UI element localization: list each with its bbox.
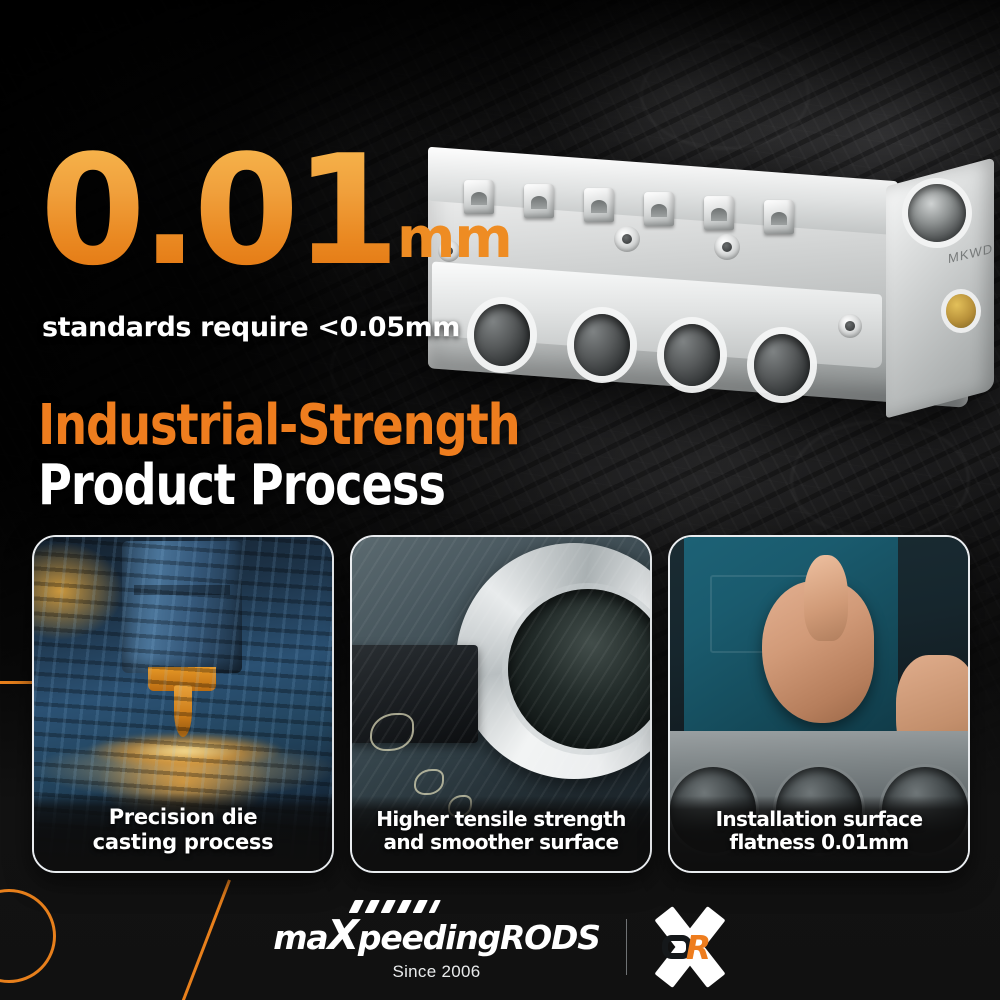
tool-holder [350, 645, 478, 743]
promo-banner: MKWD 0.01 mm standards require <0.05mm I… [0, 0, 1000, 1000]
feature-card-precision-die-casting[interactable]: Precision die casting process [32, 535, 334, 873]
drill-bit [174, 685, 192, 737]
x-monogram-icon: R [653, 916, 727, 978]
wordmark-x: X [327, 911, 357, 959]
section-title: Industrial-Strength Product Process [38, 396, 561, 517]
title-line-secondary: Product Process [38, 456, 520, 516]
card-caption-line2: and smoother surface [362, 831, 640, 855]
metal-chip [370, 713, 414, 751]
wordmark-ma: ma [273, 918, 327, 957]
turned-face [456, 543, 652, 779]
wordmark-rods: RODS [500, 918, 600, 957]
card-caption: Higher tensile strength and smoother sur… [352, 796, 650, 871]
cam-bearing-cap [764, 200, 794, 234]
card-caption-line2: casting process [44, 830, 322, 855]
hero-measurement: 0.01 mm [40, 150, 512, 272]
intake-port [474, 304, 530, 366]
oil-gallery-plug [946, 294, 976, 328]
hero-value: 0.01 [40, 150, 395, 272]
spark-glow [90, 733, 280, 769]
brand-wordmark: maXpeedingRODS [273, 911, 600, 959]
machine-spindle [122, 541, 242, 673]
intake-port [754, 334, 810, 396]
card-caption-line1: Precision die [44, 805, 322, 830]
thumb [804, 555, 848, 641]
brand-wordmark-block: maXpeedingRODS Since 2006 [273, 911, 600, 982]
feature-card-installation-flatness[interactable]: Installation surface flatness 0.01mm [668, 535, 970, 873]
bolt-boss [838, 314, 862, 338]
cam-bearing-cap [584, 188, 614, 222]
card-caption: Precision die casting process [34, 793, 332, 871]
card-caption-line1: Higher tensile strength [362, 808, 640, 832]
bolt-boss [714, 234, 740, 260]
cam-bearing-cap [524, 184, 554, 218]
brand-since: Since 2006 [273, 962, 600, 982]
hero-subtitle: standards require <0.05mm [42, 312, 460, 343]
wordmark-peeding: peeding [358, 918, 500, 957]
cam-bearing-cap [644, 192, 674, 226]
feature-card-tensile-strength[interactable]: Higher tensile strength and smoother sur… [350, 535, 652, 873]
title-line-primary: Industrial-Strength [38, 396, 520, 456]
brand-divider [626, 919, 627, 975]
hero-unit: mm [397, 217, 512, 272]
intake-port [574, 314, 630, 376]
cam-bearing-cap [704, 196, 734, 230]
brand-lockup: maXpeedingRODS Since 2006 R [0, 911, 1000, 982]
feature-card-list: Precision die casting process Higher ten… [32, 535, 970, 873]
card-caption-line2: flatness 0.01mm [680, 831, 958, 855]
machined-bore [508, 589, 652, 749]
metal-chip [414, 769, 444, 795]
intake-port [664, 324, 720, 386]
card-caption-line1: Installation surface [680, 808, 958, 832]
card-caption: Installation surface flatness 0.01mm [670, 796, 968, 871]
bolt-boss [614, 226, 640, 252]
camshaft-bore [908, 184, 966, 242]
monogram-r-letter: R [686, 931, 711, 964]
